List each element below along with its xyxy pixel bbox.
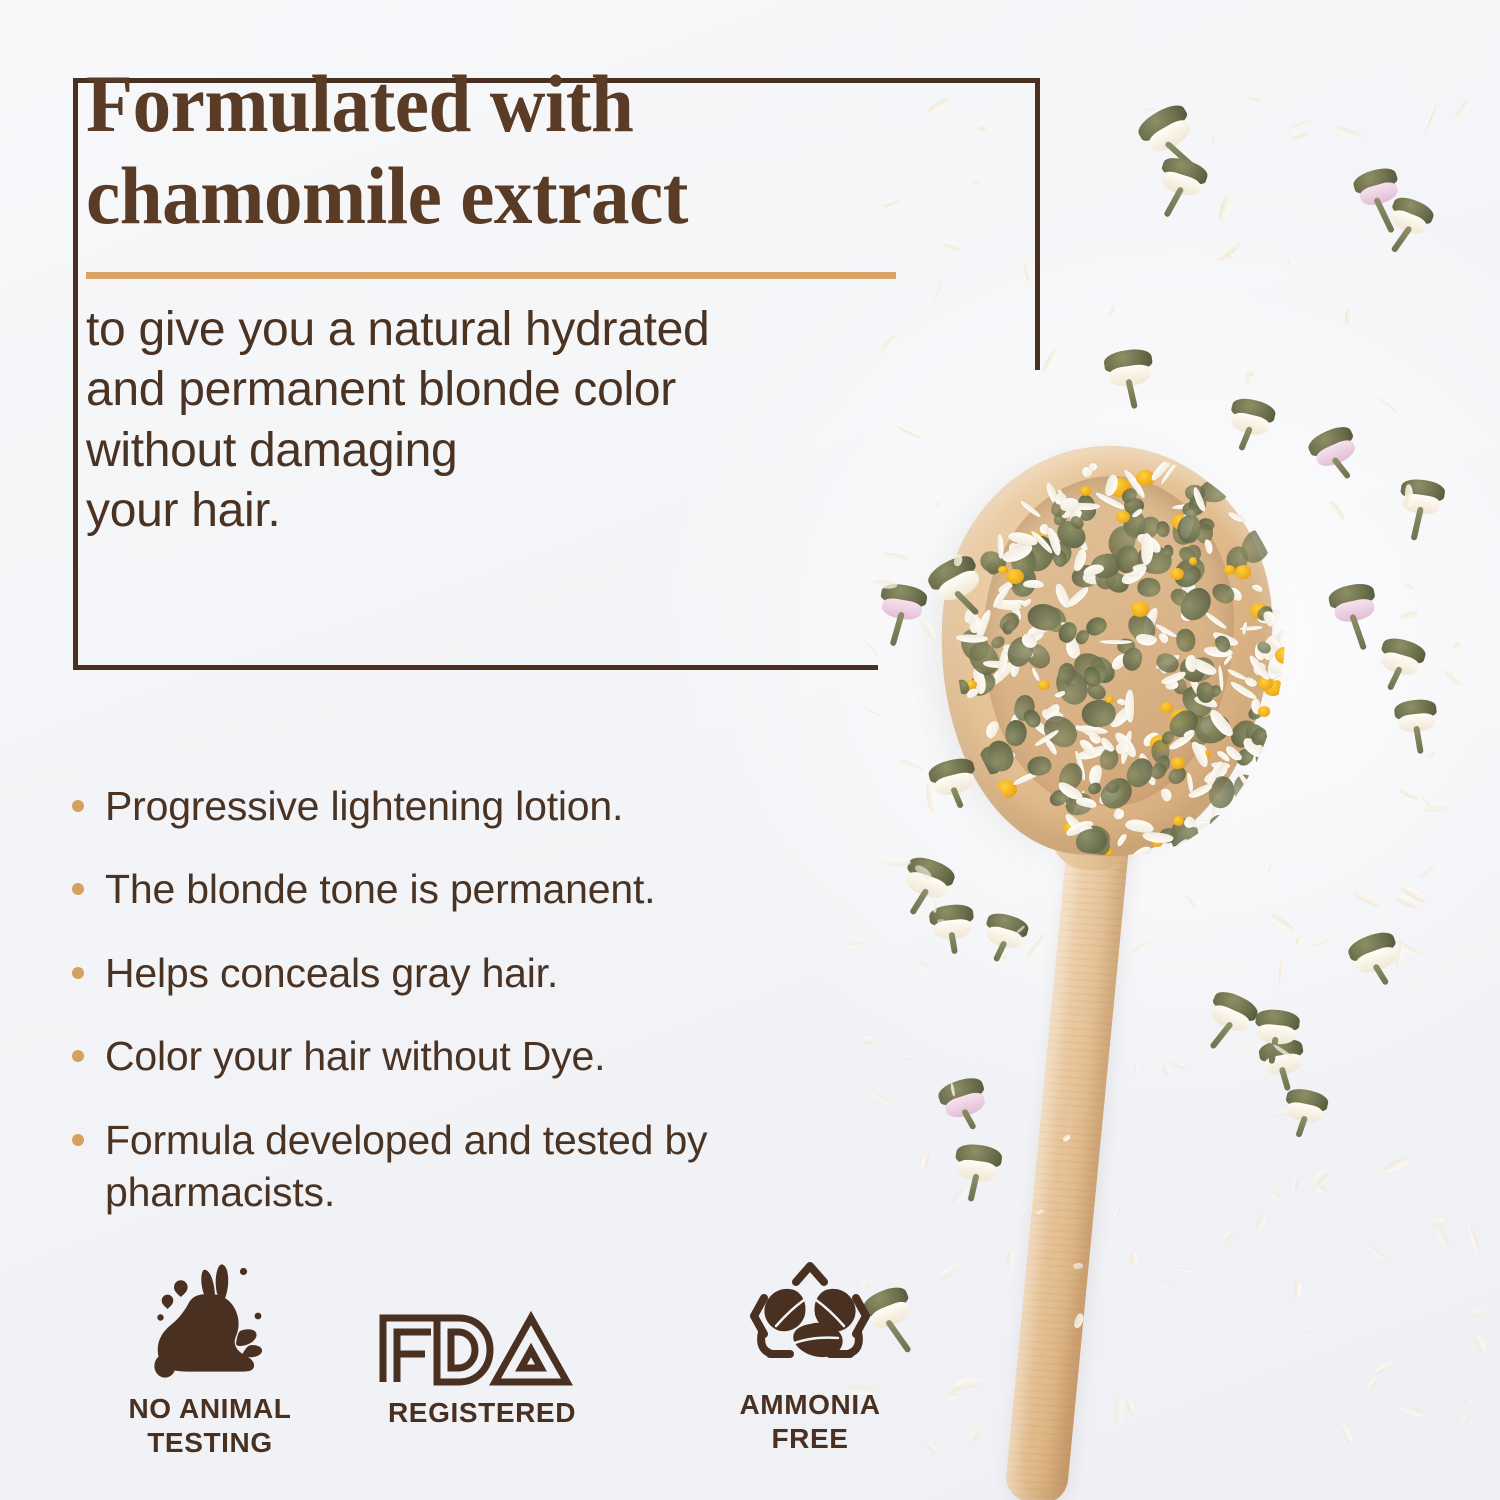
subtitle: to give you a natural hydrated and perma… — [86, 300, 916, 542]
flower-petal — [1129, 1253, 1137, 1265]
badge-label: REGISTERED — [332, 1396, 632, 1430]
headline-line-2: chamomile extract — [86, 150, 876, 242]
flower-petal — [937, 919, 945, 924]
certification-badges: NO ANIMAL TESTING REGISTERED — [60, 1258, 940, 1488]
subtitle-line-2: and permanent blonde color — [86, 360, 916, 420]
badge-label: NO ANIMAL TESTING — [60, 1392, 360, 1460]
list-item-label: Helps conceals gray hair. — [105, 947, 558, 999]
spoon-handle — [1004, 803, 1133, 1500]
list-item: Helps conceals gray hair. — [72, 947, 832, 999]
leaf-triangle-icon — [746, 1258, 874, 1378]
badge-fda-registered: REGISTERED — [332, 1310, 632, 1430]
page-title: Formulated with chamomile extract — [86, 58, 876, 242]
fda-monogram-icon — [375, 1310, 589, 1386]
flower-bud — [1103, 347, 1156, 389]
flower-bud — [953, 1142, 1004, 1184]
list-item-label: Formula developed and tested by pharmaci… — [105, 1114, 832, 1219]
list-item-label: The blonde tone is permanent. — [105, 863, 655, 915]
list-item: Formula developed and tested by pharmaci… — [72, 1114, 832, 1219]
accent-rule — [86, 272, 896, 279]
bullet-dot-icon — [72, 967, 84, 979]
subtitle-line-1: to give you a natural hydrated — [86, 300, 916, 360]
flower-petal — [1072, 1262, 1083, 1269]
frame-border-right — [1035, 78, 1040, 370]
subtitle-line-3: without damaging — [86, 421, 916, 481]
frame-border-bottom — [73, 665, 878, 670]
bullet-dot-icon — [72, 883, 84, 895]
flower-bud — [1393, 698, 1438, 734]
flower-petal — [1020, 1202, 1026, 1211]
flower-bud — [1253, 1008, 1300, 1046]
list-item: Color your hair without Dye. — [72, 1030, 832, 1082]
list-item-label: Progressive lightening lotion. — [105, 780, 623, 832]
bullet-dot-icon — [72, 800, 84, 812]
headline-line-1: Formulated with — [86, 58, 876, 150]
product-feature-poster: Formulated with chamomile extract to giv… — [0, 0, 1500, 1500]
badge-ammonia-free: AMMONIA FREE — [660, 1258, 960, 1456]
bullet-dot-icon — [72, 1134, 84, 1146]
feature-list: Progressive lightening lotion. The blond… — [72, 780, 832, 1250]
list-item-label: Color your hair without Dye. — [105, 1030, 605, 1082]
rabbit-icon — [147, 1258, 273, 1382]
badge-no-animal-testing: NO ANIMAL TESTING — [60, 1258, 360, 1460]
badge-label: AMMONIA FREE — [660, 1388, 960, 1456]
frame-border-left — [73, 78, 78, 670]
list-item: Progressive lightening lotion. — [72, 780, 832, 832]
bullet-dot-icon — [72, 1050, 84, 1062]
flower-petal — [1344, 309, 1352, 325]
list-item: The blonde tone is permanent. — [72, 863, 832, 915]
subtitle-line-4: your hair. — [86, 481, 916, 541]
